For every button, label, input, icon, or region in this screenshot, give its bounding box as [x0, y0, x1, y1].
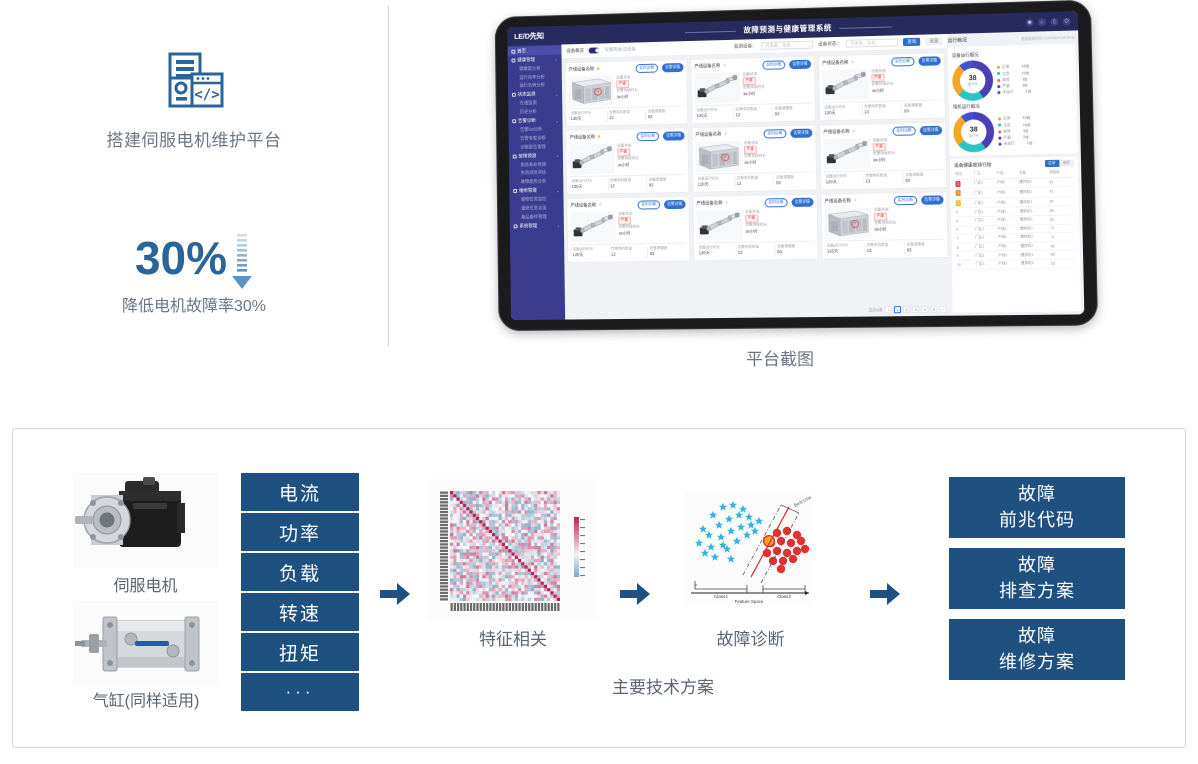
card-footer: 设备运行时长120天 告警电机数量13 设备健康度93	[825, 239, 944, 256]
user-icon[interactable]: ◉	[1025, 18, 1033, 26]
realtime-diagnose-button[interactable]: 实时诊断	[765, 198, 787, 207]
device-card[interactable]: 产线设备名称 ★ 实时诊断 告警详情 设备状态 严重 告警持续时长 36小时	[566, 196, 690, 263]
alarm-count-metric: 告警电机数量12	[610, 246, 649, 259]
table-cell: 产线1	[997, 259, 1020, 268]
right-panel: 运行概况 数据更新时间 2020/05/20 08:30:00 设备运行概况 3…	[947, 30, 1084, 315]
pagination-page-5[interactable]: 5	[930, 306, 937, 313]
runtime-metric: 设备运行时长130天	[569, 110, 608, 123]
duration-label: 告警持续时长	[871, 82, 893, 87]
sidebar-label: 故障预测	[518, 153, 536, 159]
star-icon[interactable]: ★	[850, 60, 855, 66]
table-cell: 厂区1	[973, 178, 996, 188]
realtime-diagnose-button[interactable]: 实时诊断	[638, 200, 660, 209]
chevron-down-icon: ⌄	[892, 40, 895, 45]
status-select-placeholder: 可多选、全选	[850, 40, 875, 47]
pagination-total: 总共9条	[868, 307, 882, 313]
sidebar-label: 备品备件管理	[521, 214, 547, 219]
device-select-placeholder: 可多选、全选	[765, 42, 790, 49]
tablet-frame: LE/D先知 故障预测与健康管理系统 ◉ ⌂ ▯ ⏻ 首页健康管理⌄健康度分析运…	[495, 0, 1098, 331]
rank-table-body: 1厂区1产线1搅拌机1932厂区1产线1搅拌机1913厂区1产线1搅拌机1874…	[954, 177, 1076, 269]
motor-donut-label: 运行中	[953, 134, 994, 139]
output-list: 故障前兆代码故障排查方案故障维修方案	[949, 477, 1125, 680]
rank-medal: 1	[955, 181, 960, 187]
home-icon	[511, 49, 515, 53]
device-card[interactable]: 产线设备名称 ★ 实时诊断 告警详情 设备状态 严重 告警持续时长 36小时	[819, 122, 947, 191]
card-status: 设备状态 严重 告警持续时长 36小时	[616, 75, 638, 100]
stats-column: </> 搭建伺服电机维护平台 30% 降低电机故障率30%	[0, 0, 388, 360]
status-select[interactable]: 可多选、全选 ⌄	[846, 38, 898, 47]
alarm-detail-button[interactable]: 告警详情	[790, 129, 812, 138]
card-header: 产线设备名称 ★ 实时诊断 告警详情	[695, 129, 812, 140]
classification-scatter: Best LineClass1Class2Feature Space	[685, 491, 813, 606]
runtime-metric: 设备运行时长120天	[696, 176, 735, 189]
card-body: 设备状态 严重 告警持续时长 36小时	[823, 136, 942, 169]
right-arrow-icon	[868, 581, 902, 607]
signal-box: ···	[241, 673, 359, 711]
rank-medal: 2	[956, 190, 961, 196]
health-metric: 设备健康度93	[904, 172, 943, 185]
down-trend-arrow-icon	[231, 232, 253, 290]
table-cell: 产线1	[996, 197, 1019, 207]
device-image	[695, 141, 741, 172]
device-name: 产线设备名称	[824, 198, 851, 204]
legend-swatch	[997, 91, 1000, 94]
table-cell: 63	[1050, 259, 1076, 268]
rank-medal: 3	[956, 200, 961, 206]
table-cell: 8	[956, 243, 975, 252]
device-card[interactable]: 产线设备名称 ★ 实时诊断 告警详情 设备状态 严重 告警持续时长 36小时	[690, 56, 816, 125]
toggle-label: 仅看有关注设备	[604, 46, 635, 53]
device-image	[569, 75, 614, 106]
table-cell: 厂区1	[974, 234, 997, 243]
legend-swatch	[998, 136, 1001, 139]
app-main: 设备概览 仅看有关注设备 监测设备： 可多选、全选 ⌄ 设备状态：	[561, 30, 1084, 319]
device-image	[823, 138, 870, 169]
duration-value: 36小时	[745, 228, 767, 234]
card-footer: 设备运行时长120天 告警电机数量12 设备健康度93	[571, 242, 687, 259]
table-cell: 厂区1	[974, 251, 997, 260]
chevron-down-icon: ⌄	[556, 188, 559, 193]
card-body: 设备状态 严重 告警持续时长 36小时	[697, 208, 815, 240]
star-icon[interactable]: ★	[723, 132, 728, 138]
app-body: 首页健康管理⌄健康度分析运行效率分析运行负荷分析状态监测⌄在线监测历史分析告警诊…	[508, 30, 1085, 320]
device-image	[570, 143, 615, 174]
pagination-next[interactable]: ›	[940, 306, 947, 313]
signal-box: 扭矩	[241, 633, 359, 671]
chevron-down-icon: ⌄	[557, 223, 560, 228]
sidebar-label: 告警list分析	[520, 127, 542, 132]
alarm-detail-button[interactable]: 告警详情	[663, 131, 685, 140]
realtime-diagnose-button[interactable]: 实时诊断	[893, 126, 916, 135]
card-header: 产线设备名称 ★ 实时诊断 告警详情	[694, 60, 811, 72]
device-image	[822, 69, 869, 100]
output-line1: 故障	[1018, 553, 1056, 578]
duration-value: 36小时	[744, 159, 766, 165]
legend-label: 未运行	[1003, 141, 1014, 148]
pagination[interactable]: 总共9条 ‹12345›	[565, 303, 953, 320]
duration-label: 告警持续时长	[617, 156, 639, 160]
signal-box: 功率	[241, 513, 359, 551]
card-status: 设备状态 严重 告警持续时长 36小时	[744, 140, 766, 166]
realtime-diagnose-button[interactable]: 实时诊断	[636, 64, 658, 73]
runtime-metric: 设备运行时长120天	[825, 243, 865, 256]
motor-donut-block: 38 运行中 正常 15台 注意 16台 故障	[953, 110, 1074, 153]
motor-chart-legend: 正常 15台 注意 16台 故障 3台 严重 2台 未运行 1台	[998, 115, 1033, 148]
realtime-diagnose-button[interactable]: 实时诊断	[763, 60, 785, 69]
device-name: 产线设备名称	[823, 129, 850, 136]
table-cell: 搅拌机1	[1019, 233, 1049, 242]
table-row[interactable]: 10厂区1产线1搅拌机163	[956, 259, 1076, 269]
sidebar-subitem-4[interactable]: 运行负荷分析	[508, 81, 562, 91]
heatmap-caption: 特征相关	[418, 625, 608, 650]
card-body: 设备状态 严重 告警持续时长 36小时	[694, 70, 811, 103]
health-metric: 设备健康度93	[905, 242, 944, 255]
alarm-detail-button[interactable]: 告警详情	[661, 63, 683, 72]
title-rule-right	[839, 26, 891, 28]
table-cell: 搅拌机1	[1019, 242, 1049, 251]
device-card[interactable]: 产线设备名称 ★ 实时诊断 告警详情 设备状态 严重 告警持续时长 36小时	[565, 127, 689, 195]
legend-item: 未运行 1台	[998, 140, 1032, 147]
app-title-text: 故障预测与健康管理系统	[743, 23, 832, 34]
health-metric: 设备健康度93	[773, 105, 812, 118]
card-footer: 设备运行时长120天 告警电机数量12 设备健康度93	[695, 102, 812, 120]
signal-box: 电流	[241, 473, 359, 511]
sidebar-label: 健康管理	[517, 57, 535, 63]
device-donut-chart: 38 运行中	[952, 60, 994, 101]
stat-platform: </> 搭建伺服电机维护平台	[0, 52, 388, 151]
device-card[interactable]: 产线设备名称 ★ 实时诊断 告警详情 设备状态	[565, 59, 689, 127]
status-label: 设备状态	[617, 143, 631, 147]
servo-motor-caption: 伺服电机	[73, 572, 218, 596]
duration-label: 告警持续时长	[874, 221, 896, 225]
alarm-detail-button[interactable]: 告警详情	[791, 198, 813, 207]
card-footer: 设备运行时长120天 告警电机数量12 设备健康度93	[697, 240, 814, 257]
realtime-diagnose-button[interactable]: 实时诊断	[764, 129, 786, 138]
reset-button[interactable]: 重置	[925, 37, 942, 46]
health-metric: 设备健康度93	[774, 174, 813, 187]
star-icon[interactable]: ★	[597, 134, 601, 140]
status-label: 设备状态	[871, 68, 886, 72]
legend-swatch	[998, 124, 1001, 127]
table-cell: 搅拌机1	[1018, 197, 1048, 207]
sidebar[interactable]: 首页健康管理⌄健康度分析运行效率分析运行负荷分析状态监测⌄在线监测历史分析告警诊…	[508, 45, 566, 321]
table-cell: 71	[1049, 232, 1075, 241]
legend-swatch	[998, 130, 1001, 133]
legend-swatch	[997, 72, 1000, 75]
rank-tab-desc[interactable]: 倒序	[1059, 159, 1074, 166]
table-cell: 产线1	[997, 242, 1020, 251]
alarm-detail-button[interactable]: 告警详情	[919, 126, 942, 135]
reduction-caption: 降低电机故障率30%	[0, 292, 388, 316]
duration-value: 36小时	[616, 94, 638, 100]
device-donut-label: 运行中	[952, 82, 993, 87]
table-cell: 93	[1048, 177, 1074, 187]
pagination-page-1[interactable]: 1	[894, 306, 901, 313]
table-cell: 7	[955, 234, 974, 243]
reduction-value: 30%	[135, 230, 227, 286]
sidebar-subitem-15[interactable]: 故障趋势分析	[509, 177, 563, 187]
realtime-diagnose-button[interactable]: 实时诊断	[894, 196, 917, 205]
table-cell: 1	[954, 179, 973, 189]
device-card[interactable]: 产线设备名称 ★ 实时诊断 告警详情 设备状态 严重 告警持续时长 36小时	[692, 194, 818, 262]
legend-value: 1台	[1027, 140, 1033, 146]
sidebar-label: 系统管理	[519, 223, 537, 229]
output-box: 故障前兆代码	[949, 477, 1125, 538]
alarm-detail-button[interactable]: 告警详情	[664, 200, 686, 209]
sidebar-label: 历史分析	[520, 109, 537, 114]
code-window-icon: </>	[162, 52, 226, 112]
device-image	[697, 210, 743, 241]
device-card[interactable]: 产线设备名称 ★ 实时诊断 告警详情 设备状态 严重 告警持续时长 36小时	[818, 52, 946, 121]
card-header: 产线设备名称 ★ 实时诊断 告警详情	[823, 126, 942, 137]
status-label: 设备状态	[874, 207, 889, 211]
legend-swatch	[998, 143, 1001, 146]
table-cell: 91	[1048, 187, 1074, 197]
status-label: 设备状态	[618, 211, 632, 215]
sidebar-label: 维修管理	[519, 188, 537, 194]
table-cell: 厂区1	[974, 260, 997, 269]
pagination-prev[interactable]: ‹	[885, 306, 892, 313]
cylinder-caption: 气缸(同样适用)	[61, 687, 231, 711]
output-line2: 排查方案	[999, 579, 1075, 604]
card-header: 产线设备名称 ★ 实时诊断 告警详情	[824, 195, 943, 206]
card-header: 产线设备名称 ★ 实时诊断 告警详情	[570, 200, 685, 210]
title-rule-left	[685, 30, 736, 32]
star-icon[interactable]: ★	[598, 203, 602, 209]
card-header: 产线设备名称 ★ 实时诊断 告警详情	[696, 198, 813, 209]
chevron-down-icon: ⌄	[807, 42, 810, 47]
alarm-count-metric: 告警电机数量12	[608, 109, 647, 122]
table-cell: 厂区1	[973, 207, 996, 216]
legend-swatch	[998, 117, 1001, 120]
alarm-icon	[512, 119, 516, 123]
output-box: 故障排查方案	[949, 548, 1125, 609]
duration-value: 36小时	[617, 162, 639, 168]
device-image	[694, 72, 740, 103]
alarm-detail-button[interactable]: 告警详情	[789, 60, 811, 69]
tablet-mockup: LE/D先知 故障预测与健康管理系统 ◉ ⌂ ▯ ⏻ 首页健康管理⌄健康度分析运…	[470, 0, 1110, 380]
table-cell: 产线1	[996, 188, 1019, 198]
table-cell: 6	[955, 225, 974, 234]
duration-value: 36小时	[874, 226, 896, 232]
settings-icon	[514, 224, 518, 228]
health-icon	[511, 58, 515, 62]
chevron-down-icon: ⌄	[556, 153, 559, 158]
health-metric: 设备健康度93	[646, 108, 684, 121]
search-button[interactable]: 查询	[903, 38, 920, 47]
tablet-screen: LE/D先知 故障预测与健康管理系统 ◉ ⌂ ▯ ⏻ 首页健康管理⌄健康度分析运…	[507, 11, 1084, 320]
star-icon[interactable]: ★	[596, 66, 600, 72]
sidebar-label: 状态监测	[518, 92, 536, 98]
device-card[interactable]: 产线设备名称 ★ 实时诊断 告警详情 设备状态	[691, 125, 817, 193]
table-cell: 产线1	[995, 178, 1018, 188]
table-cell: 厂区1	[974, 216, 997, 225]
card-status: 设备状态 严重 告警持续时长 36小时	[618, 211, 640, 236]
legend-value: 1台	[1026, 89, 1032, 95]
card-footer: 设备运行时长120天 告警电机数量13 设备健康度93	[823, 99, 942, 117]
status-label: 设备状态	[616, 75, 630, 79]
table-cell: 产线1	[996, 225, 1019, 234]
right-panel-title: 运行概况 数据更新时间 2020/05/20 08:30:00	[947, 34, 1075, 45]
alarm-count-metric: 告警电机数量12	[736, 244, 776, 257]
table-cell: 厂区1	[973, 198, 996, 208]
sidebar-label: 诊断报告管理	[520, 144, 545, 149]
sidebar-label: 运行负荷分析	[520, 83, 545, 89]
sidebar-subitem-7[interactable]: 历史分析	[508, 107, 562, 117]
duration-label: 告警持续时长	[616, 88, 638, 92]
status-label: 设备状态	[744, 140, 759, 144]
alarm-count-metric: 告警电机数量12	[734, 106, 773, 119]
duration-value: 36小时	[743, 90, 765, 97]
output-line1: 故障	[1018, 482, 1056, 507]
star-icon[interactable]: ★	[724, 200, 729, 206]
card-footer: 设备运行时长130天 告警电机数量12 设备健康度93	[569, 105, 684, 123]
sidebar-label: 运行效率分析	[519, 74, 544, 80]
sidebar-label: 首页	[517, 48, 526, 54]
realtime-diagnose-button[interactable]: 实时诊断	[891, 57, 914, 66]
duration-label: 告警持续时长	[873, 151, 895, 155]
header-action-buttons[interactable]: ◉ ⌂ ▯ ⏻	[1025, 17, 1070, 26]
card-body: 设备状态 严重 告警持续时长 36小时	[822, 67, 941, 100]
output-line2: 前兆代码	[999, 508, 1075, 533]
svg-text:Class1: Class1	[714, 594, 728, 599]
pagination-page-2[interactable]: 2	[903, 306, 910, 313]
pipeline-main-caption: 主要技术方案	[503, 673, 823, 698]
card-status: 设备状态 严重 告警持续时长 36小时	[874, 207, 897, 233]
center-column: 设备概览 仅看有关注设备 监测设备： 可多选、全选 ⌄ 设备状态：	[561, 34, 953, 320]
scatter-caption: 故障诊断	[673, 625, 828, 650]
sidebar-label: 告警专家诊断	[520, 135, 545, 140]
output-line1: 故障	[1018, 624, 1056, 649]
rank-table: 排名厂区产线设备健康度 1厂区1产线1搅拌机1932厂区1产线1搅拌机1913厂…	[954, 169, 1076, 270]
charts-panel: 设备运行概况 38 运行中 正常	[948, 44, 1078, 156]
legend-swatch	[997, 66, 1000, 69]
right-arrow-icon	[618, 581, 652, 607]
card-footer: 设备运行时长130天 告警电机数量12 设备健康度93	[570, 174, 685, 191]
table-cell: 产线1	[997, 233, 1020, 242]
table-cell: 厂区1	[973, 188, 996, 198]
device-name: 产线设备名称	[696, 201, 722, 207]
table-cell: 产线1	[996, 216, 1019, 225]
table-cell: 3	[955, 198, 974, 208]
rank-title: 设备健康度排行榜	[954, 162, 992, 169]
runtime-metric: 设备运行时长130天	[570, 178, 609, 191]
overview-label: 设备概览	[566, 48, 584, 54]
device-name: 产线设备名称	[569, 135, 595, 141]
star-icon[interactable]: ★	[852, 129, 857, 135]
health-metric: 设备健康度93	[776, 243, 815, 256]
bell-icon[interactable]: ▯	[1050, 17, 1058, 25]
watched-only-toggle[interactable]	[589, 48, 600, 54]
sidebar-subitem-19[interactable]: 备品备件管理	[510, 212, 564, 222]
card-status: 设备状态 严重 告警持续时长 36小时	[743, 71, 765, 97]
table-cell: 86	[1049, 206, 1075, 215]
alarm-count-metric: 告警电机数量12	[735, 175, 775, 188]
power-icon[interactable]: ⏻	[1062, 17, 1070, 25]
runtime-metric: 设备运行时长120天	[695, 107, 734, 120]
card-header: 产线设备名称 ★ 实时诊断 告警详情	[569, 131, 684, 142]
correlation-heatmap	[428, 479, 598, 619]
card-header: 产线设备名称 ★ 实时诊断 告警详情	[822, 56, 941, 68]
table-cell: 65	[1050, 250, 1076, 259]
legend-swatch	[997, 78, 1000, 81]
runtime-metric: 设备运行时长120天	[697, 245, 736, 258]
legend-label: 未运行	[1002, 89, 1013, 96]
right-arrow-icon	[378, 581, 412, 607]
duration-label: 告警持续时长	[744, 154, 766, 158]
table-cell: 9	[956, 251, 975, 260]
device-card[interactable]: 产线设备名称 ★ 实时诊断 告警详情 设备状态	[820, 191, 948, 260]
runtime-metric: 设备运行时长120天	[823, 104, 863, 117]
realtime-diagnose-button[interactable]: 实时诊断	[637, 132, 659, 141]
card-footer: 设备运行时长120天 告警电机数量13 设备健康度93	[824, 169, 943, 187]
sidebar-item-20[interactable]: 系统管理⌄	[510, 221, 564, 231]
sidebar-subitem-11[interactable]: 诊断报告管理	[509, 142, 563, 152]
svg-text:Class2: Class2	[777, 594, 791, 599]
sidebar-label: 故障趋势分析	[521, 179, 546, 184]
table-cell: 厂区1	[974, 225, 997, 234]
status-label: 设备状态	[743, 72, 758, 76]
pagination-page-4[interactable]: 4	[921, 306, 928, 313]
chevron-down-icon: ⌄	[555, 92, 558, 97]
sidebar-label: 在线监测	[520, 100, 537, 105]
rank-tab-asc[interactable]: 正序	[1045, 160, 1060, 167]
rank-header: 设备健康度排行榜 正序 倒序	[954, 159, 1074, 168]
star-icon[interactable]: ★	[853, 198, 858, 204]
card-status: 设备状态 严重 告警持续时长 36小时	[617, 143, 639, 168]
alarm-count-metric: 告警电机数量13	[864, 173, 904, 186]
table-cell: 搅拌机1	[1020, 250, 1050, 259]
device-cards-area: 产线设备名称 ★ 实时诊断 告警详情 设备状态	[562, 49, 953, 307]
sidebar-label: 维修任务监控	[521, 196, 546, 201]
duration-label: 告警持续时长	[618, 225, 640, 229]
table-cell: 10	[956, 260, 975, 269]
table-cell: 搅拌机1	[1018, 177, 1048, 187]
signal-box: 负载	[241, 553, 359, 591]
pagination-page-3[interactable]: 3	[912, 306, 919, 313]
home-icon[interactable]: ⌂	[1038, 18, 1046, 26]
legend-item: 未运行 1台	[997, 89, 1031, 96]
sidebar-label: 维修任务派发	[521, 205, 547, 210]
duration-label: 告警持续时长	[743, 85, 765, 90]
alarm-detail-button[interactable]: 告警详情	[921, 195, 944, 204]
tablet-caption: 平台截图	[470, 345, 1090, 370]
alarm-count-metric: 告警电机数量13	[863, 103, 903, 116]
signal-box: 转速	[241, 593, 359, 631]
duration-value: 36小时	[618, 230, 640, 236]
sidebar-label: 告警诊断	[518, 118, 536, 124]
runtime-metric: 设备运行时长120天	[824, 173, 864, 186]
signal-list: 电流功率负载转速扭矩···	[241, 473, 359, 711]
device-name: 产线设备名称	[695, 132, 721, 139]
table-cell: 产线1	[996, 207, 1019, 216]
runtime-metric: 设备运行时长120天	[571, 246, 610, 259]
sidebar-label: 剩余寿命预测	[521, 161, 546, 166]
rank-sort-tabs[interactable]: 正序 倒序	[1045, 159, 1074, 167]
card-body: 设备状态 严重 告警持续时长 36小时	[569, 73, 684, 105]
status-label: 设备状态	[873, 138, 888, 142]
pneumatic-cylinder-photo	[73, 601, 218, 686]
alarm-detail-button[interactable]: 告警详情	[918, 56, 941, 65]
star-icon[interactable]: ★	[722, 63, 727, 69]
device-name: 产线设备名称	[568, 67, 594, 74]
device-select[interactable]: 可多选、全选 ⌄	[761, 41, 813, 50]
output-line2: 维修方案	[999, 650, 1075, 675]
device-image	[570, 212, 615, 242]
device-donut-center: 38 运行中	[952, 74, 993, 86]
status-label: 设备状态	[745, 209, 760, 213]
duration-label: 告警持续时长	[745, 223, 767, 227]
